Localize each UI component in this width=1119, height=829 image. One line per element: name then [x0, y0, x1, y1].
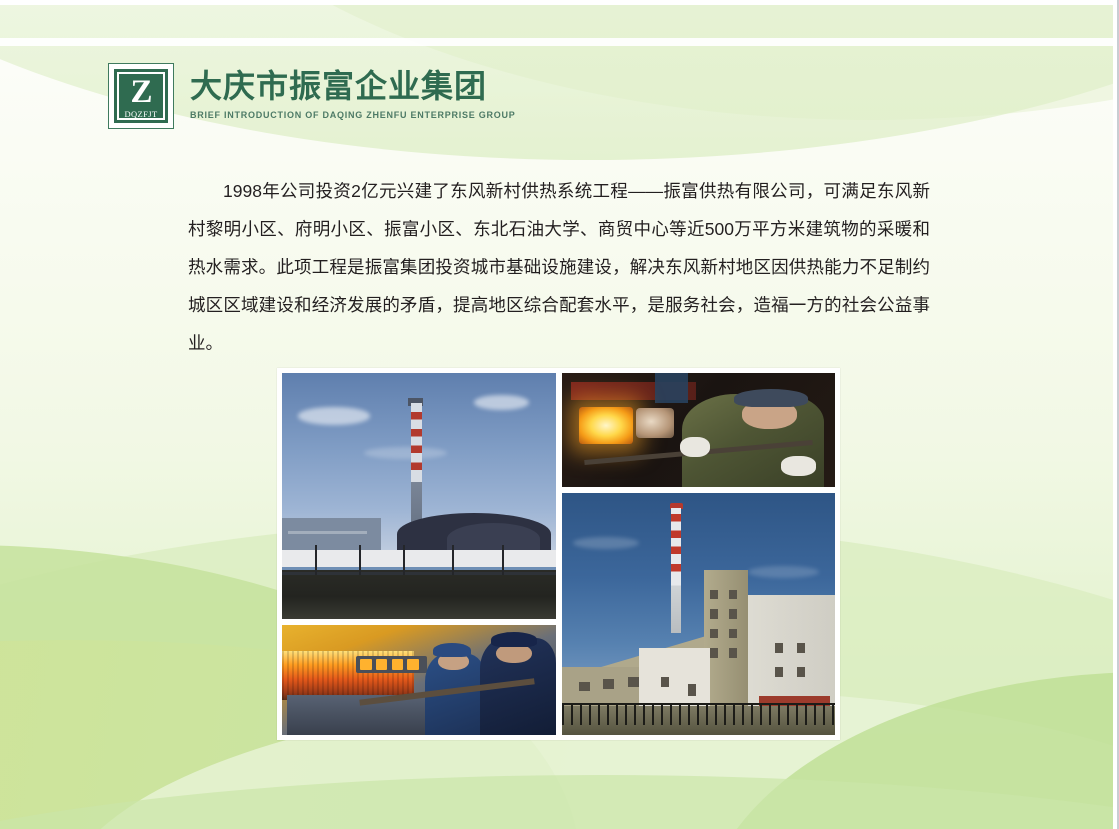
slide-canvas: Z DQZFJT 大庆市振富企业集团 BRIEF INTRODUCTION OF…: [0, 0, 1119, 829]
body-paragraph: 1998年公司投资2亿元兴建了东风新村供热系统工程——振富供热有限公司，可满足东…: [188, 172, 930, 362]
photo-heating-plant-building: [562, 493, 835, 735]
logo-abbreviation: DQZFJT: [124, 110, 157, 119]
collage-column-left: [282, 373, 556, 735]
photo-boiler-workers: [282, 625, 556, 735]
logo-inner-square: Z DQZFJT: [114, 69, 168, 123]
photo-power-plant-exterior: [282, 373, 556, 619]
logo-letter: Z: [130, 75, 151, 109]
brand-text-block: 大庆市振富企业集团 BRIEF INTRODUCTION OF DAQING Z…: [190, 63, 516, 121]
collage-column-right: [562, 373, 835, 735]
company-name-en: BRIEF INTRODUCTION OF DAQING ZHENFU ENTE…: [190, 109, 516, 121]
company-logo-icon: Z DQZFJT: [108, 63, 174, 129]
photo-furnace-operator: [562, 373, 835, 487]
company-name-cn: 大庆市振富企业集团: [190, 67, 516, 105]
top-white-band: [0, 38, 1119, 46]
brand-header: Z DQZFJT 大庆市振富企业集团 BRIEF INTRODUCTION OF…: [108, 63, 516, 129]
top-white-strip: [0, 0, 1119, 5]
photo-collage: [277, 368, 840, 740]
